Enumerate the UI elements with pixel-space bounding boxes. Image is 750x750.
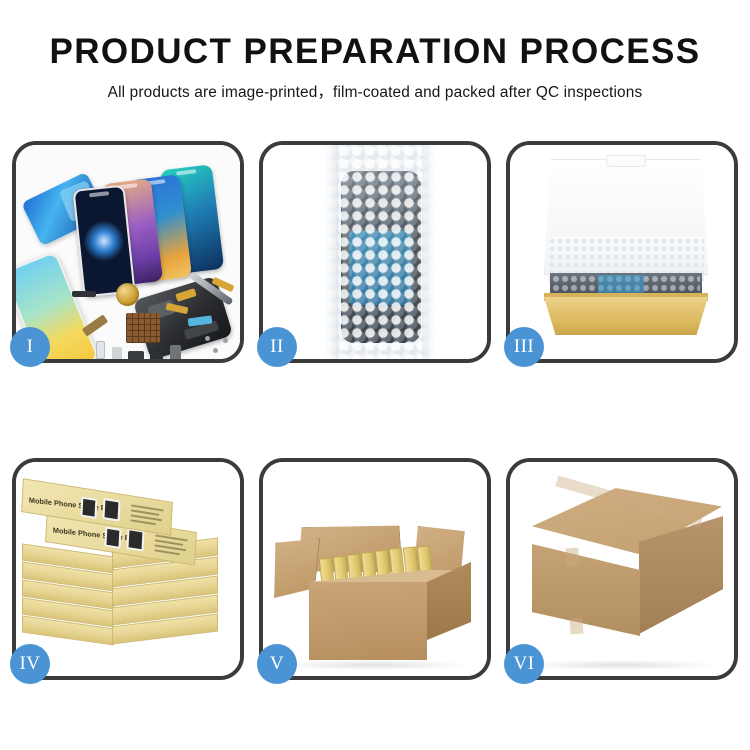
step-4-image: Mobile Phone Spare Parts Mobile Phone Sp… — [16, 462, 240, 676]
step-panel-2: II — [259, 141, 491, 363]
box-phone-image — [104, 527, 121, 549]
screw-part — [205, 336, 210, 341]
spare-part — [128, 351, 144, 359]
page-subtitle: All products are image-printed，film-coat… — [0, 80, 750, 102]
film-edge-right — [422, 145, 435, 359]
process-step-grid: I II — [12, 141, 738, 680]
page-title: PRODUCT PREPARATION PROCESS — [0, 34, 750, 71]
box-lid-tab — [606, 155, 646, 167]
carton-front — [309, 582, 427, 660]
step-badge-1: I — [10, 327, 50, 367]
kraft-box-front — [544, 297, 708, 335]
phone-dark-screen — [72, 185, 135, 298]
step-panel-5: V — [259, 458, 491, 680]
speaker-coil-part — [116, 283, 139, 306]
step-badge-6: VI — [504, 644, 544, 684]
box-phone-image — [80, 497, 97, 519]
box-phone-image — [102, 498, 120, 522]
step-badge-2: II — [257, 327, 297, 367]
screw-part — [213, 348, 218, 353]
header: PRODUCT PREPARATION PROCESS All products… — [0, 0, 750, 102]
step-6-image — [510, 462, 734, 676]
step-2-image — [263, 145, 487, 359]
film-edge-left — [325, 145, 338, 359]
product-preparation-infographic: PRODUCT PREPARATION PROCESS All products… — [0, 0, 750, 750]
packing-tape-front — [565, 548, 579, 567]
step-3-image — [510, 145, 734, 359]
step-panel-1: I — [12, 141, 244, 363]
spare-part — [150, 349, 163, 359]
spare-part — [96, 341, 105, 359]
step-5-image — [263, 462, 487, 676]
spare-part — [112, 347, 122, 359]
step-1-image — [16, 145, 240, 359]
chip-grid-part — [126, 313, 160, 343]
step-panel-6: VI — [506, 458, 738, 680]
screw-part — [223, 338, 228, 343]
step-badge-4: IV — [10, 644, 50, 684]
bubble-highlights — [325, 145, 435, 359]
step-panel-3: III — [506, 141, 738, 363]
step-badge-5: V — [257, 644, 297, 684]
step-badge-3: III — [504, 327, 544, 367]
box-phone-image — [126, 528, 144, 552]
packing-tape-bottom — [569, 618, 583, 635]
spare-part — [170, 345, 181, 359]
spare-part — [72, 291, 96, 297]
step-panel-4: Mobile Phone Spare Parts Mobile Phone Sp… — [12, 458, 244, 680]
